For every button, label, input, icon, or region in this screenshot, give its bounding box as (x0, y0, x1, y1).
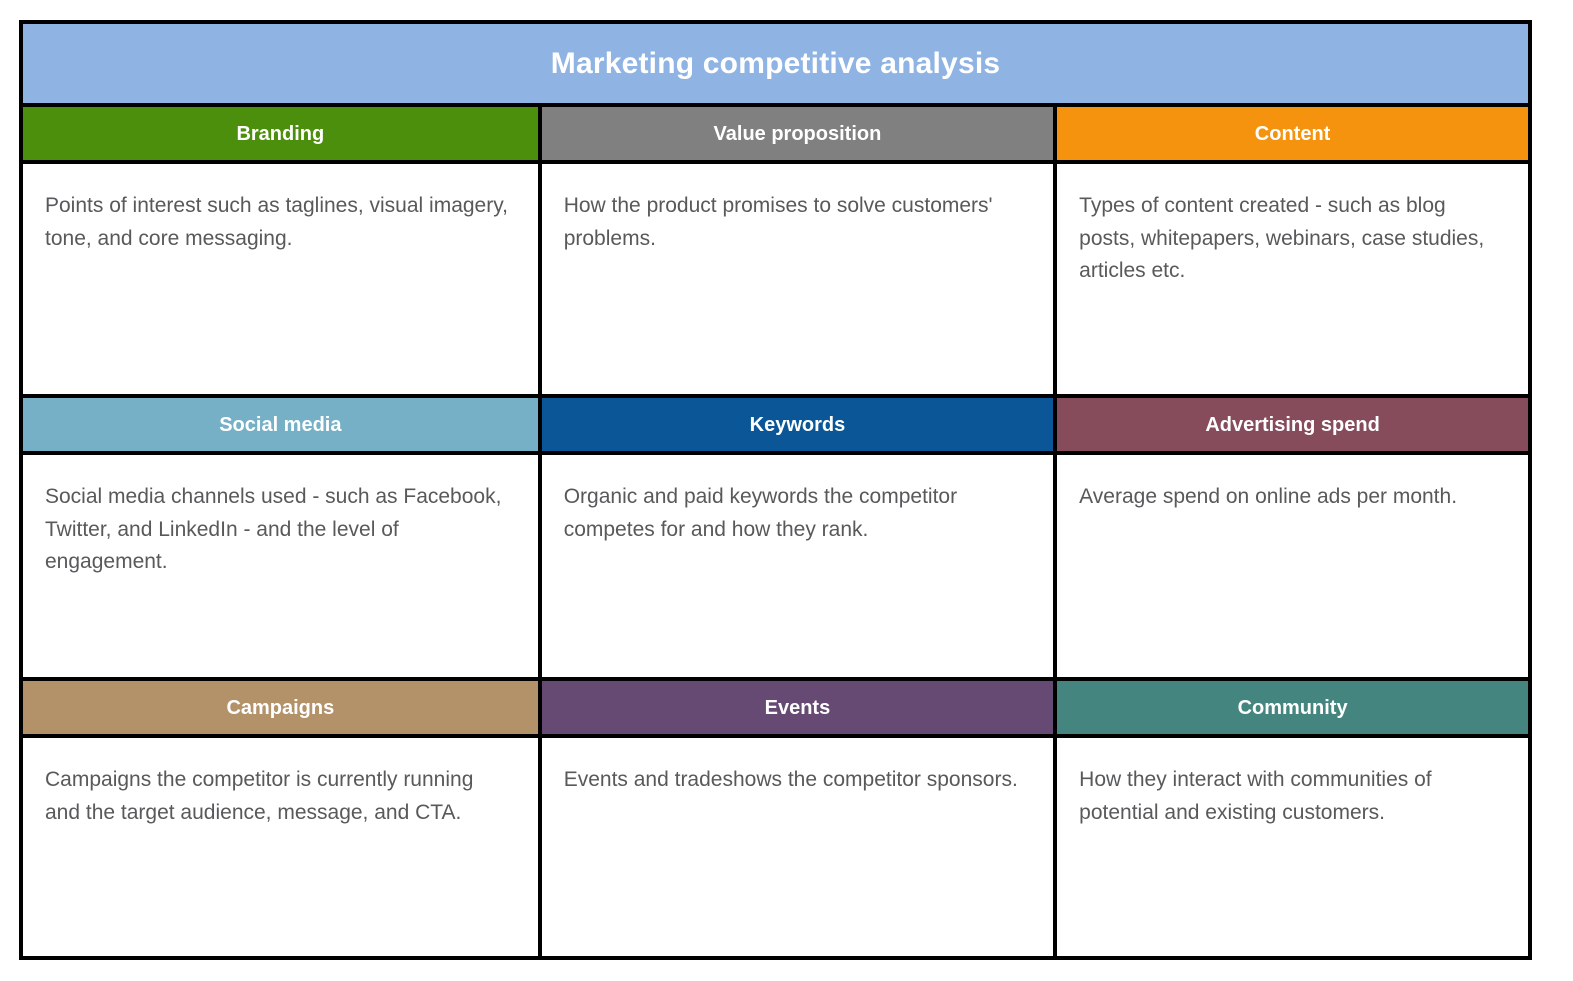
category-header-label: Keywords (750, 415, 846, 435)
category-header-label: Community (1238, 698, 1348, 718)
category-header-keywords[interactable]: Keywords (538, 398, 1053, 451)
category-header-label: Branding (236, 124, 324, 144)
category-header-campaigns[interactable]: Campaigns (23, 681, 538, 734)
category-body-content[interactable]: Types of content created - such as blog … (1053, 164, 1528, 394)
page-root: Marketing competitive analysis Branding … (0, 0, 1573, 981)
category-header-label: Social media (219, 415, 341, 435)
category-header-row-2: Social media Keywords Advertising spend (23, 394, 1528, 451)
category-body-community[interactable]: How they interact with communities of po… (1053, 738, 1528, 956)
category-body-text: Social media channels used - such as Fac… (45, 481, 508, 579)
category-header-label: Content (1255, 124, 1331, 144)
category-header-content[interactable]: Content (1053, 107, 1528, 160)
category-body-text: Average spend on online ads per month. (1079, 481, 1499, 514)
category-body-row-2: Social media channels used - such as Fac… (23, 451, 1528, 677)
category-body-text: How they interact with communities of po… (1079, 764, 1499, 829)
category-body-text: Campaigns the competitor is currently ru… (45, 764, 508, 829)
category-body-text: Organic and paid keywords the competitor… (564, 481, 1024, 546)
category-header-label: Advertising spend (1205, 415, 1379, 435)
category-header-advertising-spend[interactable]: Advertising spend (1053, 398, 1528, 451)
category-body-text: Points of interest such as taglines, vis… (45, 190, 508, 255)
category-body-events[interactable]: Events and tradeshows the competitor spo… (538, 738, 1053, 956)
category-body-keywords[interactable]: Organic and paid keywords the competitor… (538, 455, 1053, 677)
matrix-title-bar: Marketing competitive analysis (23, 24, 1528, 103)
competitive-analysis-matrix: Marketing competitive analysis Branding … (19, 20, 1532, 960)
category-header-value-proposition[interactable]: Value proposition (538, 107, 1053, 160)
category-body-advertising-spend[interactable]: Average spend on online ads per month. (1053, 455, 1528, 677)
category-body-text: Types of content created - such as blog … (1079, 190, 1499, 288)
category-header-community[interactable]: Community (1053, 681, 1528, 734)
category-header-row-1: Branding Value proposition Content (23, 103, 1528, 160)
category-header-label: Events (765, 698, 831, 718)
category-header-label: Campaigns (226, 698, 334, 718)
page-title: Marketing competitive analysis (551, 49, 1001, 79)
category-header-events[interactable]: Events (538, 681, 1053, 734)
category-header-social-media[interactable]: Social media (23, 398, 538, 451)
category-body-branding[interactable]: Points of interest such as taglines, vis… (23, 164, 538, 394)
category-body-row-1: Points of interest such as taglines, vis… (23, 160, 1528, 394)
category-body-value-proposition[interactable]: How the product promises to solve custom… (538, 164, 1053, 394)
category-header-label: Value proposition (714, 124, 882, 144)
category-header-row-3: Campaigns Events Community (23, 677, 1528, 734)
category-body-social-media[interactable]: Social media channels used - such as Fac… (23, 455, 538, 677)
category-body-campaigns[interactable]: Campaigns the competitor is currently ru… (23, 738, 538, 956)
category-body-text: How the product promises to solve custom… (564, 190, 1024, 255)
category-body-row-3: Campaigns the competitor is currently ru… (23, 734, 1528, 956)
category-body-text: Events and tradeshows the competitor spo… (564, 764, 1024, 797)
category-header-branding[interactable]: Branding (23, 107, 538, 160)
